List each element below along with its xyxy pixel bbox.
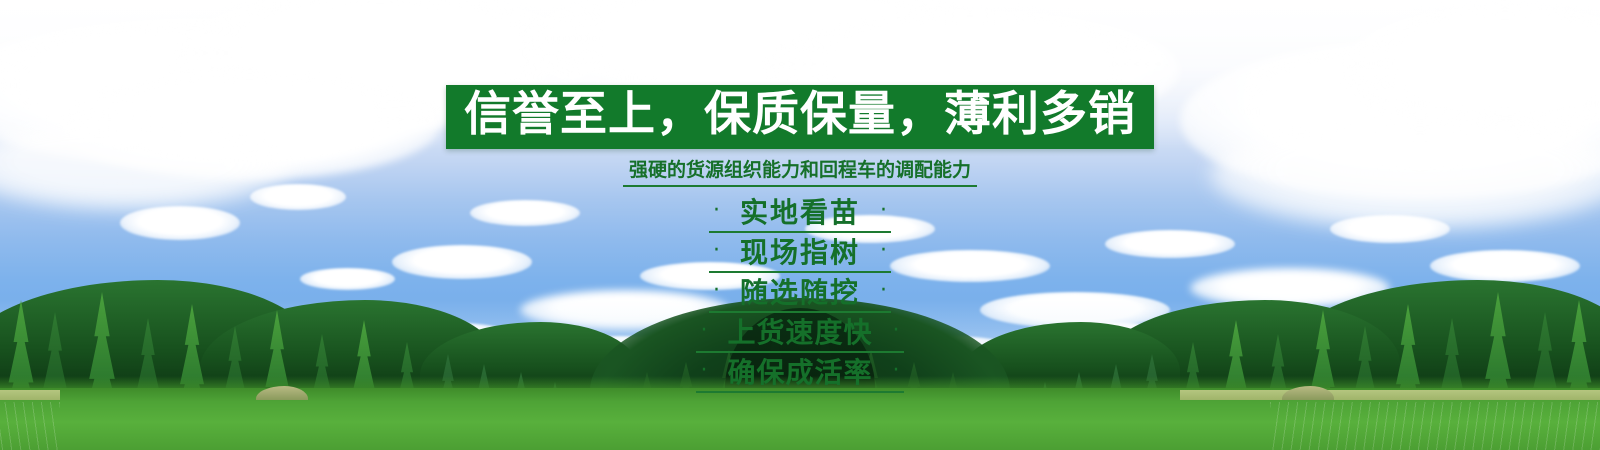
bullet-dot-right-icon: ·: [893, 360, 900, 382]
feature-label: 上货速度快: [727, 317, 872, 349]
feature-list: · 实地看苗 · · 现场指树 · · 随选随挖 · · 上货速度快 · ·: [696, 196, 903, 396]
bullet-dot-left-icon: ·: [700, 320, 707, 342]
subtitle-text: 强硬的货源组织能力和回程车的调配能力: [623, 158, 977, 187]
promo-banner: 信誉至上，保质保量，薄利多销 强硬的货源组织能力和回程车的调配能力 · 实地看苗…: [0, 0, 1600, 450]
banner-content: 信誉至上，保质保量，薄利多销 强硬的货源组织能力和回程车的调配能力 · 实地看苗…: [0, 0, 1600, 450]
headline-text: 信誉至上，保质保量，薄利多销: [464, 89, 1136, 141]
bullet-dot-left-icon: ·: [713, 200, 720, 222]
bullet-dot-right-icon: ·: [880, 240, 887, 262]
bullet-dot-left-icon: ·: [700, 360, 707, 382]
feature-label: 实地看苗: [740, 197, 860, 229]
bullet-dot-right-icon: ·: [880, 280, 887, 302]
feature-label: 确保成活率: [727, 357, 872, 389]
feature-item-5: · 确保成活率 ·: [696, 356, 903, 393]
feature-item-2: · 现场指树 ·: [709, 236, 891, 273]
feature-label: 随选随挖: [740, 277, 860, 309]
feature-item-3: · 随选随挖 ·: [709, 276, 891, 313]
bullet-dot-left-icon: ·: [713, 280, 720, 302]
feature-label: 现场指树: [740, 237, 860, 269]
headline-banner: 信誉至上，保质保量，薄利多销: [446, 85, 1154, 149]
bullet-dot-left-icon: ·: [713, 240, 720, 262]
bullet-dot-right-icon: ·: [893, 320, 900, 342]
feature-item-4: · 上货速度快 ·: [696, 316, 903, 353]
feature-item-1: · 实地看苗 ·: [709, 196, 891, 233]
bullet-dot-right-icon: ·: [880, 200, 887, 222]
